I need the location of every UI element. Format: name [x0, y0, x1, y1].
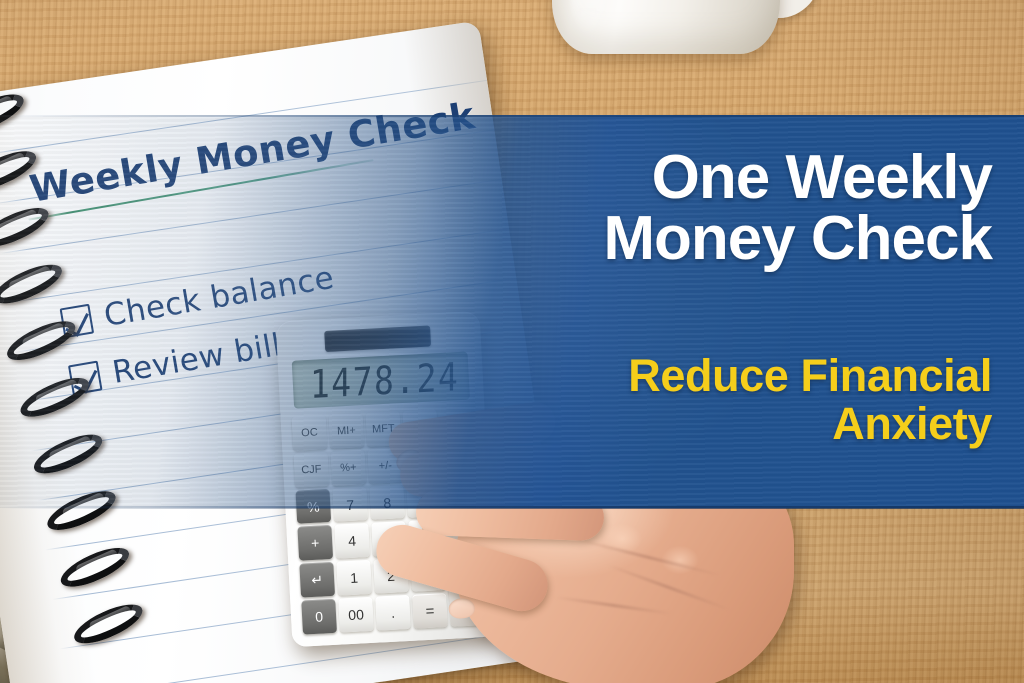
- key-double-zero[interactable]: 00: [338, 597, 374, 633]
- panel-top-edge: [0, 115, 1024, 117]
- promo-graphic: 10 10: [0, 0, 1024, 683]
- headline-line-1: One Weekly: [352, 148, 992, 209]
- subheadline-line-2: Anxiety: [352, 400, 992, 448]
- key-divide[interactable]: +: [297, 525, 333, 561]
- key-0[interactable]: 0: [301, 599, 337, 635]
- key-1[interactable]: 1: [336, 560, 372, 596]
- key-enter[interactable]: ↵: [299, 562, 335, 598]
- key-4[interactable]: 4: [334, 523, 370, 559]
- headline: One Weekly Money Check: [352, 148, 992, 270]
- subheadline: Reduce Financial Anxiety: [352, 352, 992, 447]
- headline-line-2: Money Check: [352, 209, 992, 270]
- subheadline-line-1: Reduce Financial: [352, 352, 992, 400]
- coffee-mug: [540, 0, 810, 130]
- panel-bottom-edge: [0, 506, 1024, 509]
